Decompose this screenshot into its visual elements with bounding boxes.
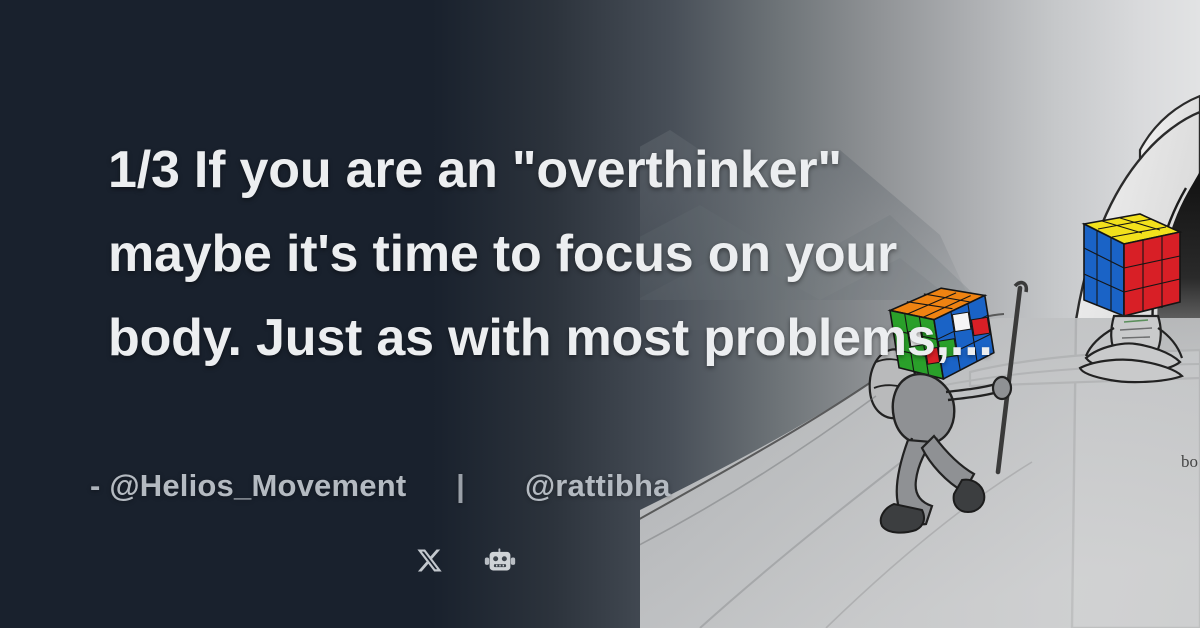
robot-face-icon (484, 476, 516, 502)
x-logo-icon[interactable] (416, 475, 443, 502)
artist-signature: bo (1181, 452, 1198, 472)
attribution-bar: - @Helios_Movement | (90, 468, 671, 504)
source-handle[interactable]: @rattibha (525, 468, 671, 504)
text-layer: 1/3 If you are an "overthinker" maybe it… (0, 0, 1200, 628)
headline-line-3: body. Just as with most problems,... (108, 296, 1168, 380)
attribution-separator: | (447, 468, 474, 504)
headline-line-1: 1/3 If you are an "overthinker" (108, 128, 1168, 212)
author-handle[interactable]: @Helios_Movement (109, 468, 406, 504)
headline-line-2: maybe it's time to focus on your (108, 212, 1168, 296)
social-share-card: 1/3 If you are an "overthinker" maybe it… (0, 0, 1200, 628)
attribution-dash: - (90, 468, 109, 504)
page-title: 1/3 If you are an "overthinker" maybe it… (108, 128, 1168, 380)
